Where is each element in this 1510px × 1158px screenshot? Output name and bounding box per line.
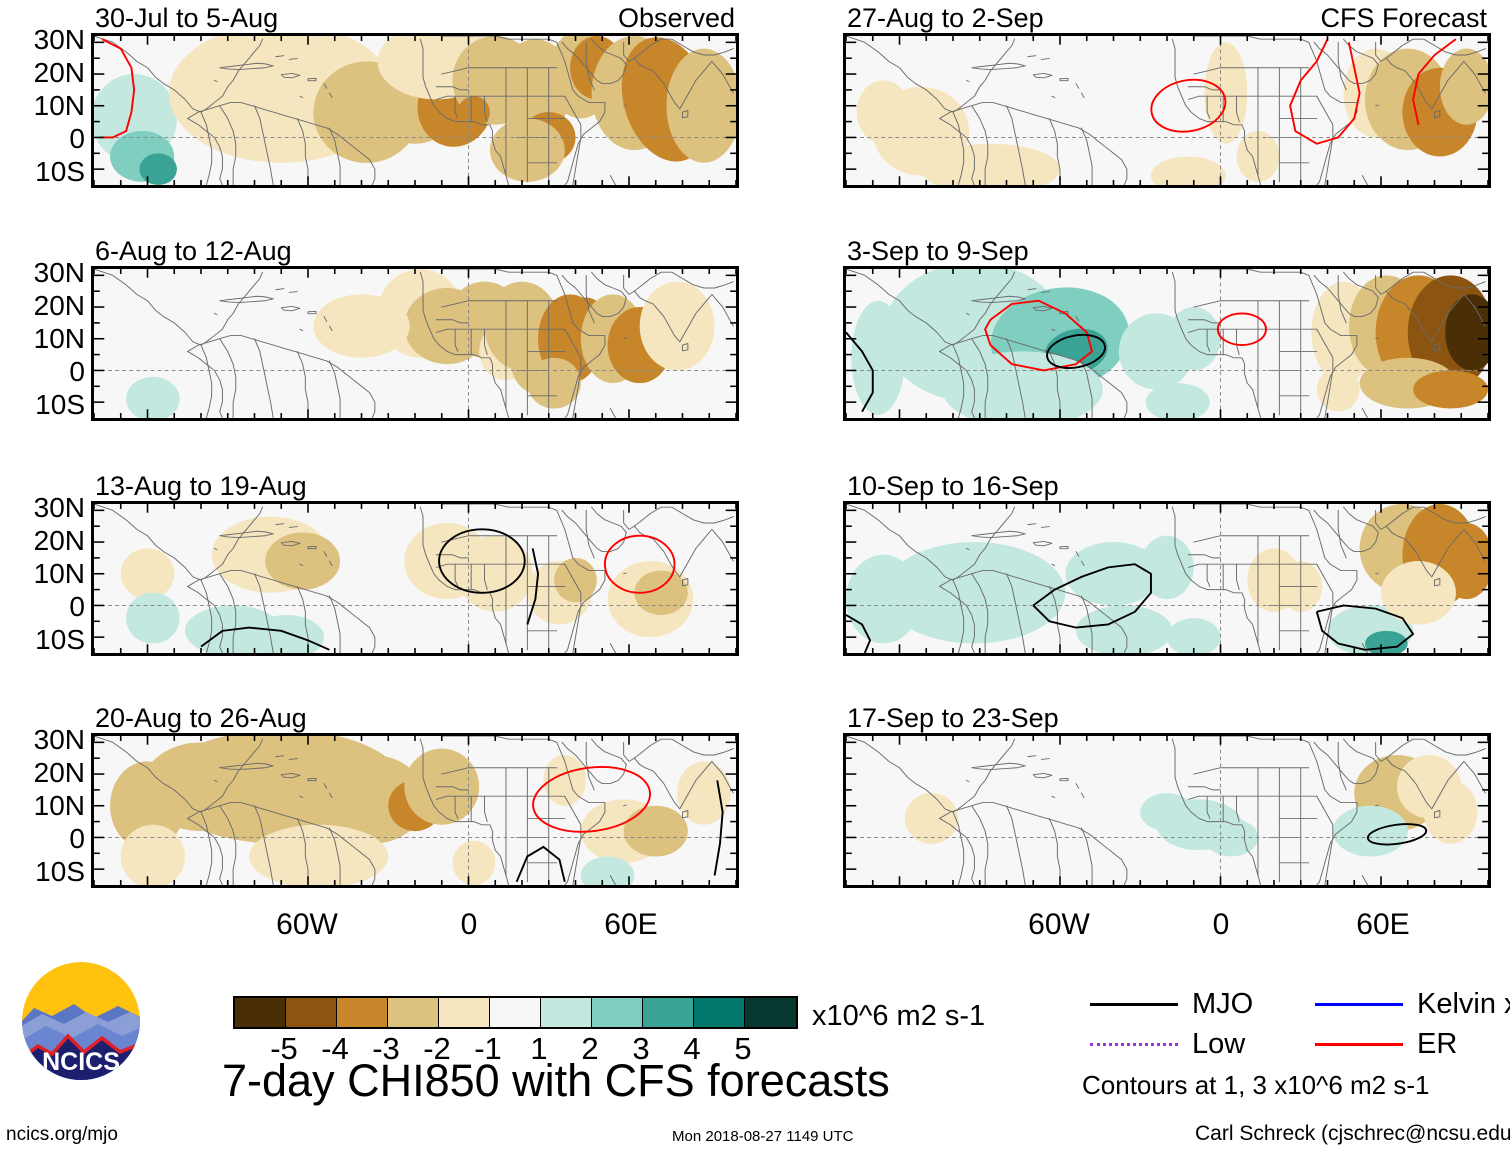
y-tick-label: 30N <box>0 494 85 522</box>
colorbar-swatch-3 <box>388 998 439 1027</box>
colorbar-swatch-6 <box>541 998 592 1027</box>
legend-line-swatch <box>1090 1043 1178 1046</box>
y-tick-label: 10N <box>0 92 85 120</box>
map-fcst-3 <box>843 501 1491 656</box>
legend-label: ER <box>1417 1030 1457 1059</box>
footer-site-link[interactable]: ncics.org/mjo <box>6 1124 118 1146</box>
y-tick-label: 0 <box>0 125 85 153</box>
contour-note: Contours at 1, 3 x10^6 m2 s-1 <box>1082 1072 1429 1098</box>
y-tick-label: 10N <box>0 792 85 820</box>
colorbar-swatch-1 <box>286 998 337 1027</box>
y-tick-label: 0 <box>0 358 85 386</box>
colorbar-swatch-4 <box>439 998 490 1027</box>
legend-entry-er: ER <box>1315 1030 1457 1059</box>
colorbar-units-label: x10^6 m2 s-1 <box>812 1002 985 1031</box>
y-tick-label: 10S <box>0 391 85 419</box>
y-tick-label: 30N <box>0 26 85 54</box>
x-tick-label: 60E <box>604 910 657 940</box>
panel-title: 10-Sep to 16-Sep <box>847 473 1059 500</box>
x-tick-label: 0 <box>1213 910 1230 940</box>
column-header: Observed <box>618 5 735 32</box>
footer-timestamp: Mon 2018-08-27 1149 UTC <box>672 1128 854 1145</box>
y-tick-label: 30N <box>0 726 85 754</box>
x-tick-label: 60W <box>1028 910 1090 940</box>
y-tick-label: 30N <box>0 259 85 287</box>
map-fcst-1 <box>843 33 1491 188</box>
y-tick-label: 10S <box>0 858 85 886</box>
page-title: 7-day CHI850 with CFS forecasts <box>222 1058 890 1103</box>
map-obs-1 <box>91 33 739 188</box>
legend-label: Low <box>1192 1030 1245 1059</box>
legend-label: MJO <box>1192 990 1253 1019</box>
y-tick-label: 20N <box>0 292 85 320</box>
map-obs-4 <box>91 733 739 888</box>
panel-title: 30-Jul to 5-Aug <box>95 5 278 32</box>
legend-entry-kelvin-x2: Kelvin x2 <box>1315 990 1510 1019</box>
y-tick-label: 10N <box>0 560 85 588</box>
panel-title: 27-Aug to 2-Sep <box>847 5 1044 32</box>
y-tick-label: 0 <box>0 825 85 853</box>
x-tick-label: 60E <box>1356 910 1409 940</box>
y-tick-label: 10N <box>0 325 85 353</box>
map-obs-3 <box>91 501 739 656</box>
map-fcst-2 <box>843 266 1491 421</box>
y-tick-label: 20N <box>0 59 85 87</box>
panel-title: 13-Aug to 19-Aug <box>95 473 307 500</box>
panel-title: 3-Sep to 9-Sep <box>847 238 1029 265</box>
ncics-logo: NCICS <box>22 962 140 1080</box>
svg-text:NCICS: NCICS <box>42 1048 120 1076</box>
x-tick-label: 0 <box>461 910 478 940</box>
footer-author[interactable]: Carl Schreck (cjschrec@ncsu.edu) <box>1195 1122 1510 1146</box>
y-tick-label: 10S <box>0 158 85 186</box>
legend-entry-mjo: MJO <box>1090 990 1253 1019</box>
y-tick-label: 0 <box>0 593 85 621</box>
panel-title: 6-Aug to 12-Aug <box>95 238 292 265</box>
y-tick-label: 20N <box>0 527 85 555</box>
legend-line-swatch <box>1315 1043 1403 1046</box>
y-tick-label: 10S <box>0 626 85 654</box>
panel-title: 17-Sep to 23-Sep <box>847 705 1059 732</box>
panel-title: 20-Aug to 26-Aug <box>95 705 307 732</box>
colorbar <box>233 996 798 1029</box>
column-header: CFS Forecast <box>1320 5 1487 32</box>
colorbar-swatch-2 <box>337 998 388 1027</box>
legend-line-swatch <box>1315 1003 1403 1006</box>
legend-entry-low: Low <box>1090 1030 1245 1059</box>
colorbar-swatch-8 <box>643 998 694 1027</box>
x-tick-label: 60W <box>276 910 338 940</box>
colorbar-swatch-9 <box>694 998 745 1027</box>
map-fcst-4 <box>843 733 1491 888</box>
y-tick-label: 20N <box>0 759 85 787</box>
colorbar-swatch-7 <box>592 998 643 1027</box>
colorbar-swatch-0 <box>235 998 286 1027</box>
map-obs-2 <box>91 266 739 421</box>
colorbar-swatch-5 <box>490 998 541 1027</box>
legend-line-swatch <box>1090 1003 1178 1006</box>
colorbar-swatch-10 <box>745 998 796 1027</box>
legend-label: Kelvin x2 <box>1417 990 1510 1019</box>
